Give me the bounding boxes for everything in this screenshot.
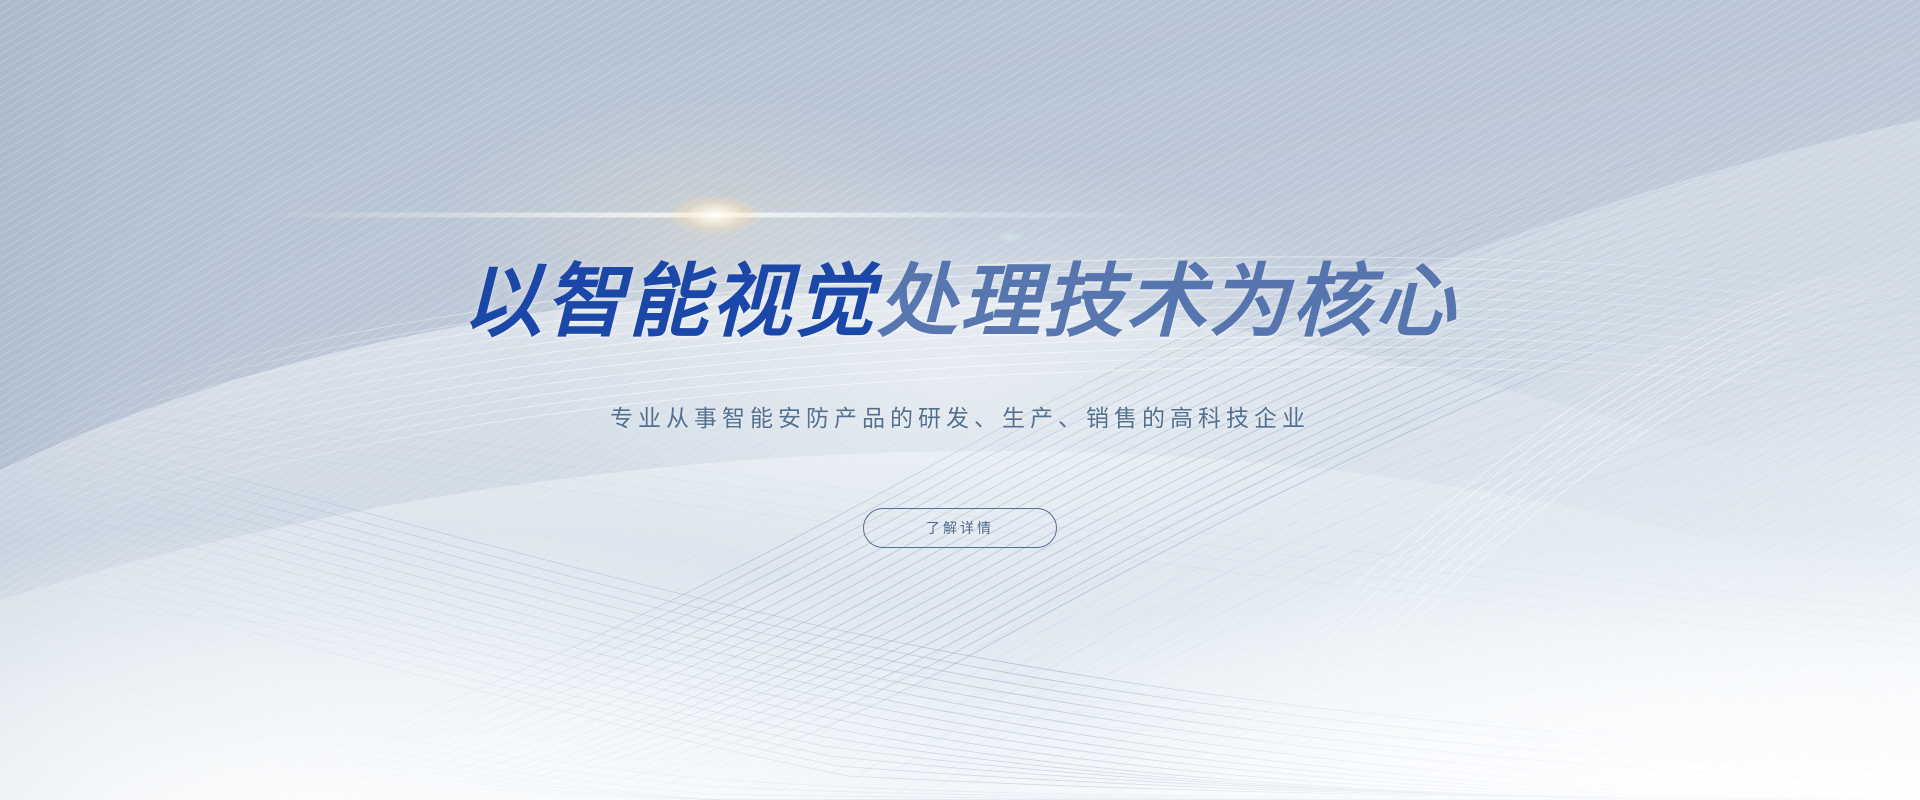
page-subtitle: 专业从事智能安防产品的研发、生产、销售的高科技企业 [0,404,1920,434]
page-title-segment-secondary: 处理技术为核心 [877,257,1458,346]
hero-content: 以智能视觉处理技术为核心 专业从事智能安防产品的研发、生产、销售的高科技企业 了… [0,0,1920,800]
hero-banner: 以智能视觉处理技术为核心 专业从事智能安防产品的研发、生产、销售的高科技企业 了… [0,0,1920,800]
cta-container: 了解详情 [0,508,1920,548]
page-title-segment-primary: 以智能视觉 [462,257,877,346]
page-title: 以智能视觉处理技术为核心 [0,262,1920,342]
learn-more-button[interactable]: 了解详情 [863,508,1057,548]
